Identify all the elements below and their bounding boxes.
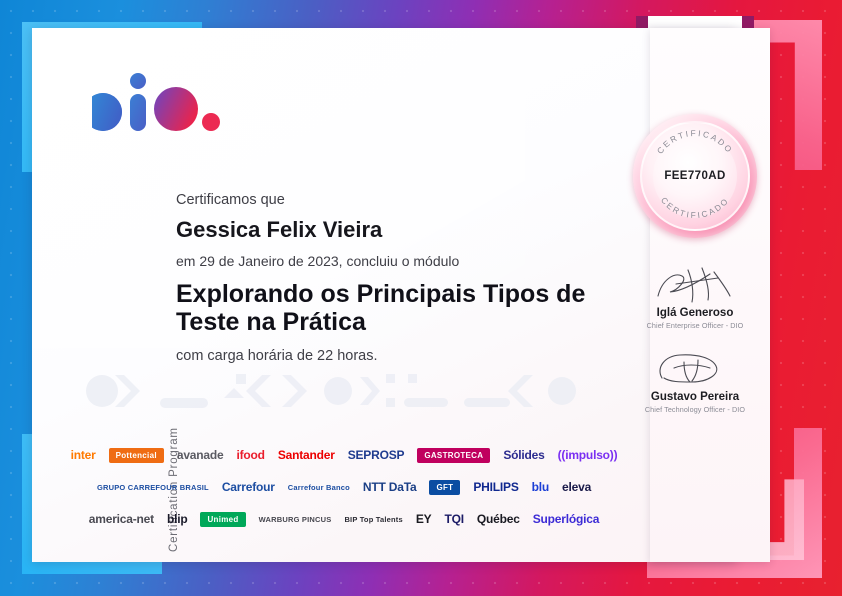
certificate-root: Certification Program Certificamos que G… [0, 0, 842, 596]
partner-logo: GFT [429, 476, 460, 498]
partner-logo-label: Carrefour [222, 480, 275, 494]
partner-logo: EY [416, 508, 432, 530]
partner-logo-label: GASTROTECA [417, 448, 490, 463]
partner-logo: GRUPO CARREFOUR BRASIL [97, 476, 209, 498]
dio-logo [92, 68, 222, 132]
partner-logo-label: Pottencial [109, 448, 164, 463]
partner-logo-label: ifood [236, 448, 264, 462]
partner-logo: inter [71, 444, 96, 466]
partner-logo-row: interPottencialavanadeifoodSantanderSEPR… [44, 440, 644, 470]
partner-logo: WARBURG PINCUS [259, 508, 332, 530]
partner-logo-label: avanade [177, 448, 224, 462]
partner-logo-label: blip [167, 512, 188, 526]
course-title: Explorando os Principais Tipos de Teste … [176, 280, 636, 337]
partner-logo: Sólides [503, 444, 544, 466]
partner-logo: PHILIPS [473, 476, 518, 498]
partner-logo: Superlógica [533, 508, 599, 530]
partner-logos: interPottencialavanadeifoodSantanderSEPR… [44, 440, 644, 536]
partner-logo-label: Superlógica [533, 512, 599, 526]
workload-text: com carga horária de 22 horas. [176, 348, 636, 364]
partner-logo: blip [167, 508, 188, 530]
partner-logo-row: GRUPO CARREFOUR BRASILCarrefourCarrefour… [44, 472, 644, 502]
signatory-role: Chief Enterprise Officer - DIO [636, 321, 754, 330]
partner-logo: TQI [444, 508, 463, 530]
partner-logo: Carrefour Banco [288, 476, 350, 498]
partner-logo-label: TQI [444, 512, 463, 526]
partner-logo-label: Sólides [503, 448, 544, 462]
partner-logo: Unimed [200, 508, 245, 530]
partner-logo: eleva [562, 476, 591, 498]
partner-logo-label: BIP Top Talents [344, 515, 402, 524]
certificate-text-block: Certificamos que Gessica Felix Vieira em… [176, 192, 636, 364]
partner-logo: BIP Top Talents [344, 508, 402, 530]
partner-logo-label: eleva [562, 480, 591, 494]
completion-date-line: em 29 de Janeiro de 2023, concluiu o mód… [176, 253, 636, 269]
partner-logo-label: SEPROSP [348, 448, 405, 462]
signatory-name: Gustavo Pereira [636, 391, 754, 403]
signatory-name: Iglá Generoso [636, 307, 754, 319]
partner-logo: Santander [278, 444, 335, 466]
handwritten-signature-icon [640, 350, 750, 388]
partner-logo: america-net [89, 508, 154, 530]
signatory-role: Chief Technology Officer - DIO [636, 405, 754, 414]
partner-logo-label: Santander [278, 448, 335, 462]
certificate-seal: CERTIFICADO CERTIFICADO FEE770AD [633, 114, 757, 238]
partner-logo-label: GRUPO CARREFOUR BRASIL [97, 483, 209, 492]
seal-code: FEE770AD [633, 170, 757, 182]
signature-block-2: Gustavo Pereira Chief Technology Officer… [636, 350, 754, 414]
partner-logo: ifood [236, 444, 264, 466]
handwritten-signature-icon [640, 266, 750, 304]
partner-logo: blu [532, 476, 549, 498]
signature-block-1: Iglá Generoso Chief Enterprise Officer -… [636, 266, 754, 330]
partner-logo: avanade [177, 444, 224, 466]
partner-logo-label: PHILIPS [473, 480, 518, 494]
partner-logo-label: WARBURG PINCUS [259, 515, 332, 524]
partner-logo: GASTROTECA [417, 444, 490, 466]
recipient-name: Gessica Felix Vieira [176, 217, 636, 243]
partner-logo: ((impulso)) [558, 444, 618, 466]
partner-logo: Carrefour [222, 476, 275, 498]
partner-logo-label: america-net [89, 512, 154, 526]
partner-logo-label: blu [532, 480, 549, 494]
partner-logo-label: GFT [429, 480, 460, 495]
svg-text:CERTIFICADO: CERTIFICADO [655, 128, 735, 156]
partner-logo-label: EY [416, 512, 432, 526]
svg-text:CERTIFICADO: CERTIFICADO [659, 195, 731, 220]
partner-logo-label: ((impulso)) [558, 448, 618, 462]
side-label-wrapper: Certification Program [96, 352, 97, 353]
partner-logo-label: inter [71, 448, 96, 462]
partner-logo-label: Unimed [200, 512, 245, 527]
partner-logo: SEPROSP [348, 444, 405, 466]
partner-logo-row: america-netblipUnimedWARBURG PINCUSBIP T… [44, 504, 644, 534]
intro-text: Certificamos que [176, 192, 636, 208]
partner-logo: Pottencial [109, 444, 164, 466]
partner-logo-label: NTT DaTa [363, 480, 417, 494]
partner-logo-label: Québec [477, 512, 520, 526]
decorative-pattern-strip [86, 372, 576, 410]
partner-logo-label: Carrefour Banco [288, 483, 350, 492]
partner-logo: Québec [477, 508, 520, 530]
partner-logo: NTT DaTa [363, 476, 417, 498]
